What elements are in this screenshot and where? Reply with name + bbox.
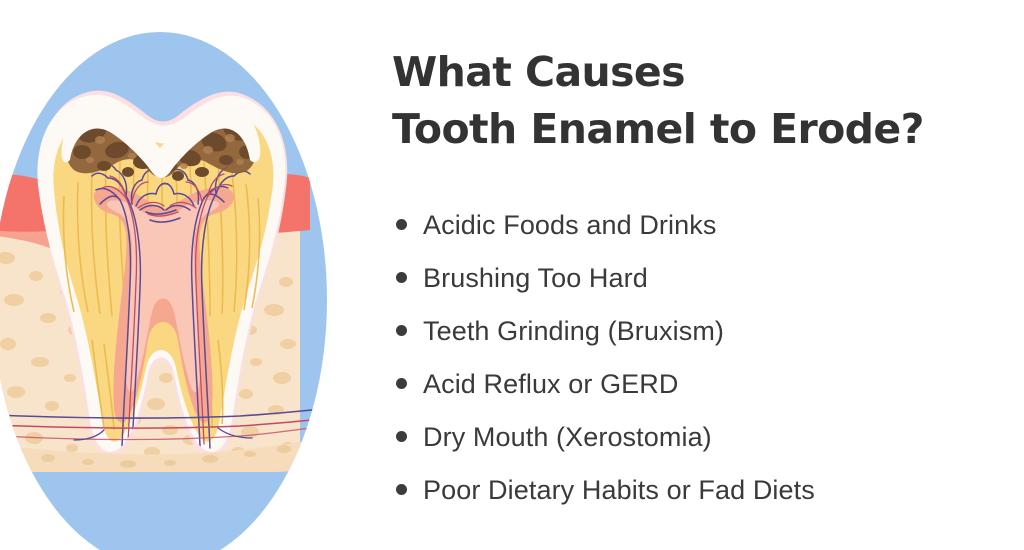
bullet-icon: [396, 378, 407, 389]
bullet-icon: [396, 484, 407, 495]
list-item: Dry Mouth (Xerostomia): [396, 410, 1016, 463]
page-title-line-2: Tooth Enamel to Erode?: [392, 101, 992, 158]
cause-label: Brushing Too Hard: [423, 262, 648, 294]
bullet-icon: [396, 431, 407, 442]
page-title-line-1: What Causes: [392, 44, 992, 101]
cause-label: Teeth Grinding (Bruxism): [423, 315, 724, 347]
bullet-icon: [396, 219, 407, 230]
text-panel: What Causes Tooth Enamel to Erode? Acidi…: [390, 0, 1024, 550]
causes-list: Acidic Foods and Drinks Brushing Too Har…: [396, 198, 1016, 516]
infographic-page: What Causes Tooth Enamel to Erode? Acidi…: [0, 0, 1024, 550]
list-item: Teeth Grinding (Bruxism): [396, 304, 1016, 357]
list-item: Acid Reflux or GERD: [396, 357, 1016, 410]
cause-label: Poor Dietary Habits or Fad Diets: [423, 474, 815, 506]
list-item: Acidic Foods and Drinks: [396, 198, 1016, 251]
bullet-icon: [396, 272, 407, 283]
cause-label: Acidic Foods and Drinks: [423, 209, 716, 241]
bullet-icon: [396, 325, 407, 336]
list-item: Poor Dietary Habits or Fad Diets: [396, 463, 1016, 516]
list-item: Brushing Too Hard: [396, 251, 1016, 304]
cause-label: Acid Reflux or GERD: [423, 368, 678, 400]
tooth-cross-section-illustration: [0, 0, 370, 550]
cause-label: Dry Mouth (Xerostomia): [423, 421, 712, 453]
page-title: What Causes Tooth Enamel to Erode?: [392, 44, 992, 158]
